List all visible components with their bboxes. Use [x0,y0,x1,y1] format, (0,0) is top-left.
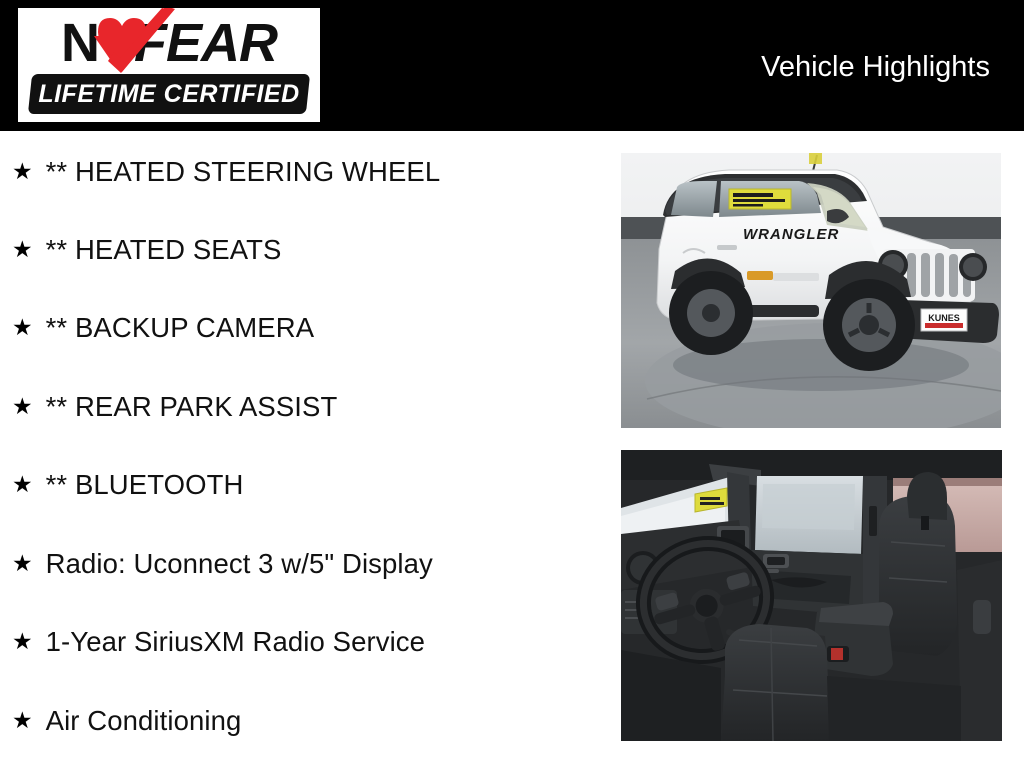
brand-wordmark: NFEAR [18,12,320,74]
list-item-label: Radio: Uconnect 3 w/5" Display [46,544,433,584]
star-icon: ★ [12,308,33,348]
page-title: Vehicle Highlights [761,50,990,84]
brand-wordmark-fear: FEAR [134,12,277,74]
list-item: ★ Radio: Uconnect 3 w/5" Display [12,544,433,584]
svg-text:WRANGLER: WRANGLER [743,226,839,243]
list-item: ★ 1-Year SiriusXM Radio Service [12,622,425,662]
star-icon: ★ [12,387,33,427]
star-icon: ★ [12,701,33,741]
vehicle-exterior-photo: WRANGLER KUNES [621,153,1001,428]
star-icon: ★ [12,544,33,584]
brand-logo-artwork: NFEAR LIFETIME CERTIFIED [18,8,320,122]
svg-text:KUNES: KUNES [928,313,960,323]
brand-wordmark-n: N [61,12,98,74]
star-icon: ★ [12,622,33,662]
list-item-label: ** BACKUP CAMERA [46,308,315,348]
vehicle-interior-photo [621,450,1002,741]
list-item: ★ ** HEATED SEATS [12,230,281,270]
list-item-label: ** REAR PARK ASSIST [46,387,338,427]
list-item: ★ ** REAR PARK ASSIST [12,387,337,427]
list-item-label: 1-Year SiriusXM Radio Service [46,622,425,662]
star-icon: ★ [12,465,33,505]
list-item: ★ Air Conditioning [12,701,241,741]
brand-banner-text: LIFETIME CERTIFIED [30,74,308,114]
list-item: ★ ** BACKUP CAMERA [12,308,314,348]
list-item-label: ** HEATED SEATS [46,230,282,270]
list-item-label: ** BLUETOOTH [46,465,244,505]
star-icon: ★ [12,230,33,270]
vehicle-highlights-list: ★ ** HEATED STEERING WHEEL ★ ** HEATED S… [0,131,600,768]
list-item: ★ ** HEATED STEERING WHEEL [12,152,440,192]
star-icon: ★ [12,152,33,192]
list-item-label: ** HEATED STEERING WHEEL [46,152,441,192]
header-bar: NFEAR LIFETIME CERTIFIED Vehicle Highlig… [0,0,1024,131]
list-item-label: Air Conditioning [46,701,242,741]
brand-logo: NFEAR LIFETIME CERTIFIED [18,8,320,122]
list-item: ★ ** BLUETOOTH [12,465,243,505]
brand-banner: LIFETIME CERTIFIED [28,74,310,114]
